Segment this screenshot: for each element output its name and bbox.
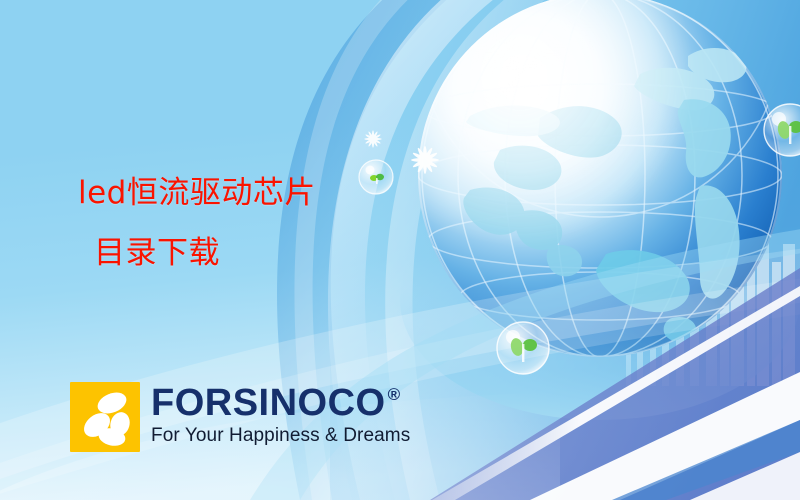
brand-name: FORSINOCO [151,384,386,422]
brand-logo[interactable]: FORSINOCO ® For Your Happiness & Dreams [70,382,410,452]
promo-banner: led恒流驱动芯片 目录下载 FORSINOCO ® For Your Happ… [0,0,800,500]
earth-globe-graphic [400,0,800,420]
four-petal-pinwheel-icon [70,382,140,452]
city-skyline-silhouette [626,214,795,386]
registered-trademark-icon: ® [388,386,401,403]
headline-line-2: 目录下载 [78,223,316,283]
brand-tagline: For Your Happiness & Dreams [151,425,410,447]
diagonal-white-stripes [430,268,800,500]
translucent-bubble [359,104,800,374]
starburst-sparkle [364,130,439,174]
brand-lockup: FORSINOCO ® For Your Happiness & Dreams [151,382,410,447]
headline-line-1: led恒流驱动芯片 [78,175,316,211]
banner-headline: led恒流驱动芯片 目录下载 [78,163,316,284]
